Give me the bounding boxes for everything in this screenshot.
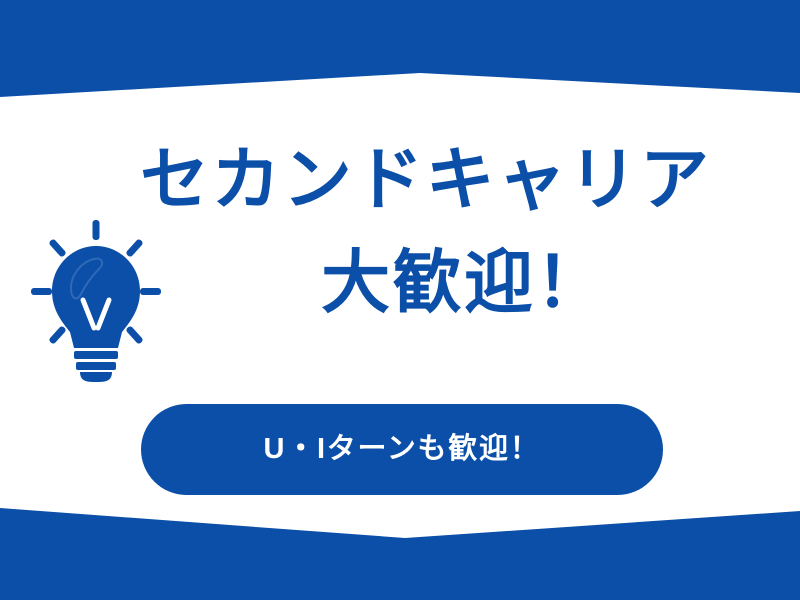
headline-line-1: セカンドキャリア xyxy=(132,142,792,219)
lightbulb-ray-left xyxy=(31,288,52,295)
cta-button[interactable]: U・Iターンも歓迎！ xyxy=(141,404,663,495)
lightbulb-ray-lower-right xyxy=(125,325,144,345)
headline-block: セカンドキャリア 大歓迎！ xyxy=(132,142,792,323)
cta-button-label: U・Iターンも歓迎！ xyxy=(264,435,541,464)
lightbulb-collar xyxy=(70,332,122,348)
lightbulb-thread-2 xyxy=(76,362,116,370)
top-chevron-band xyxy=(0,0,800,97)
bottom-chevron-band xyxy=(0,508,800,600)
lightbulb-tip xyxy=(80,372,112,382)
lightbulb-ray-upper-left xyxy=(48,238,67,258)
lightbulb-ray-top xyxy=(93,220,100,240)
headline-line-2: 大歓迎！ xyxy=(132,245,792,322)
banner-root: セカンドキャリア 大歓迎！ U・Iターンも歓迎！ xyxy=(0,0,800,600)
lightbulb-thread-1 xyxy=(74,351,118,359)
lightbulb-ray-lower-left xyxy=(48,325,67,345)
